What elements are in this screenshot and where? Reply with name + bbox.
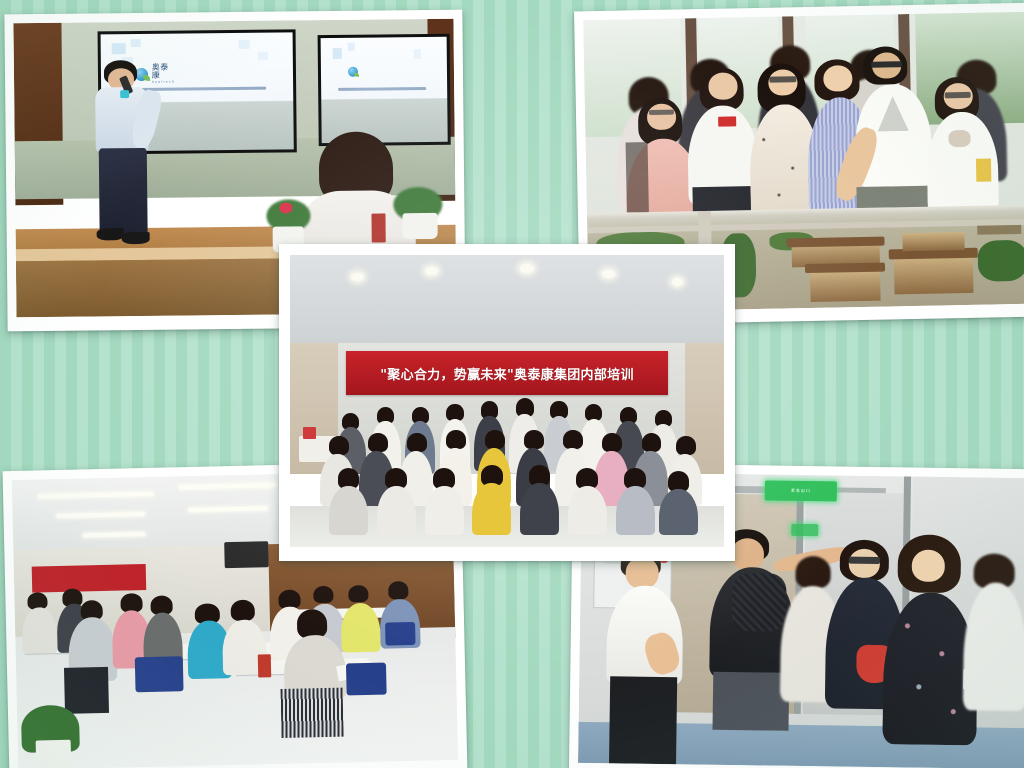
projection-screen-right	[317, 33, 450, 146]
slide-logo-en: healtech	[152, 80, 176, 84]
slide-logo-cn: 奥泰康	[152, 64, 176, 80]
photo-group-banner-scene: "聚心合力，势赢未来"奥泰康集团内部培训	[290, 255, 724, 547]
training-banner: "聚心合力，势赢未来"奥泰康集团内部培训	[346, 351, 667, 395]
leaf-icon	[143, 75, 150, 81]
slide-logo: 奥泰康 healtech	[135, 64, 176, 84]
training-banner-text: "聚心合力，势赢未来"奥泰康集团内部培训	[380, 364, 634, 383]
photo-group-banner[interactable]: "聚心合力，势赢未来"奥泰康集团内部培训	[279, 244, 735, 561]
emergency-exit-sign: 紧急出口	[765, 480, 837, 501]
classroom-banner	[31, 564, 146, 593]
emergency-exit-sign-text: 紧急出口	[791, 488, 811, 495]
collage-canvas: 奥泰康 healtech	[0, 0, 1024, 768]
